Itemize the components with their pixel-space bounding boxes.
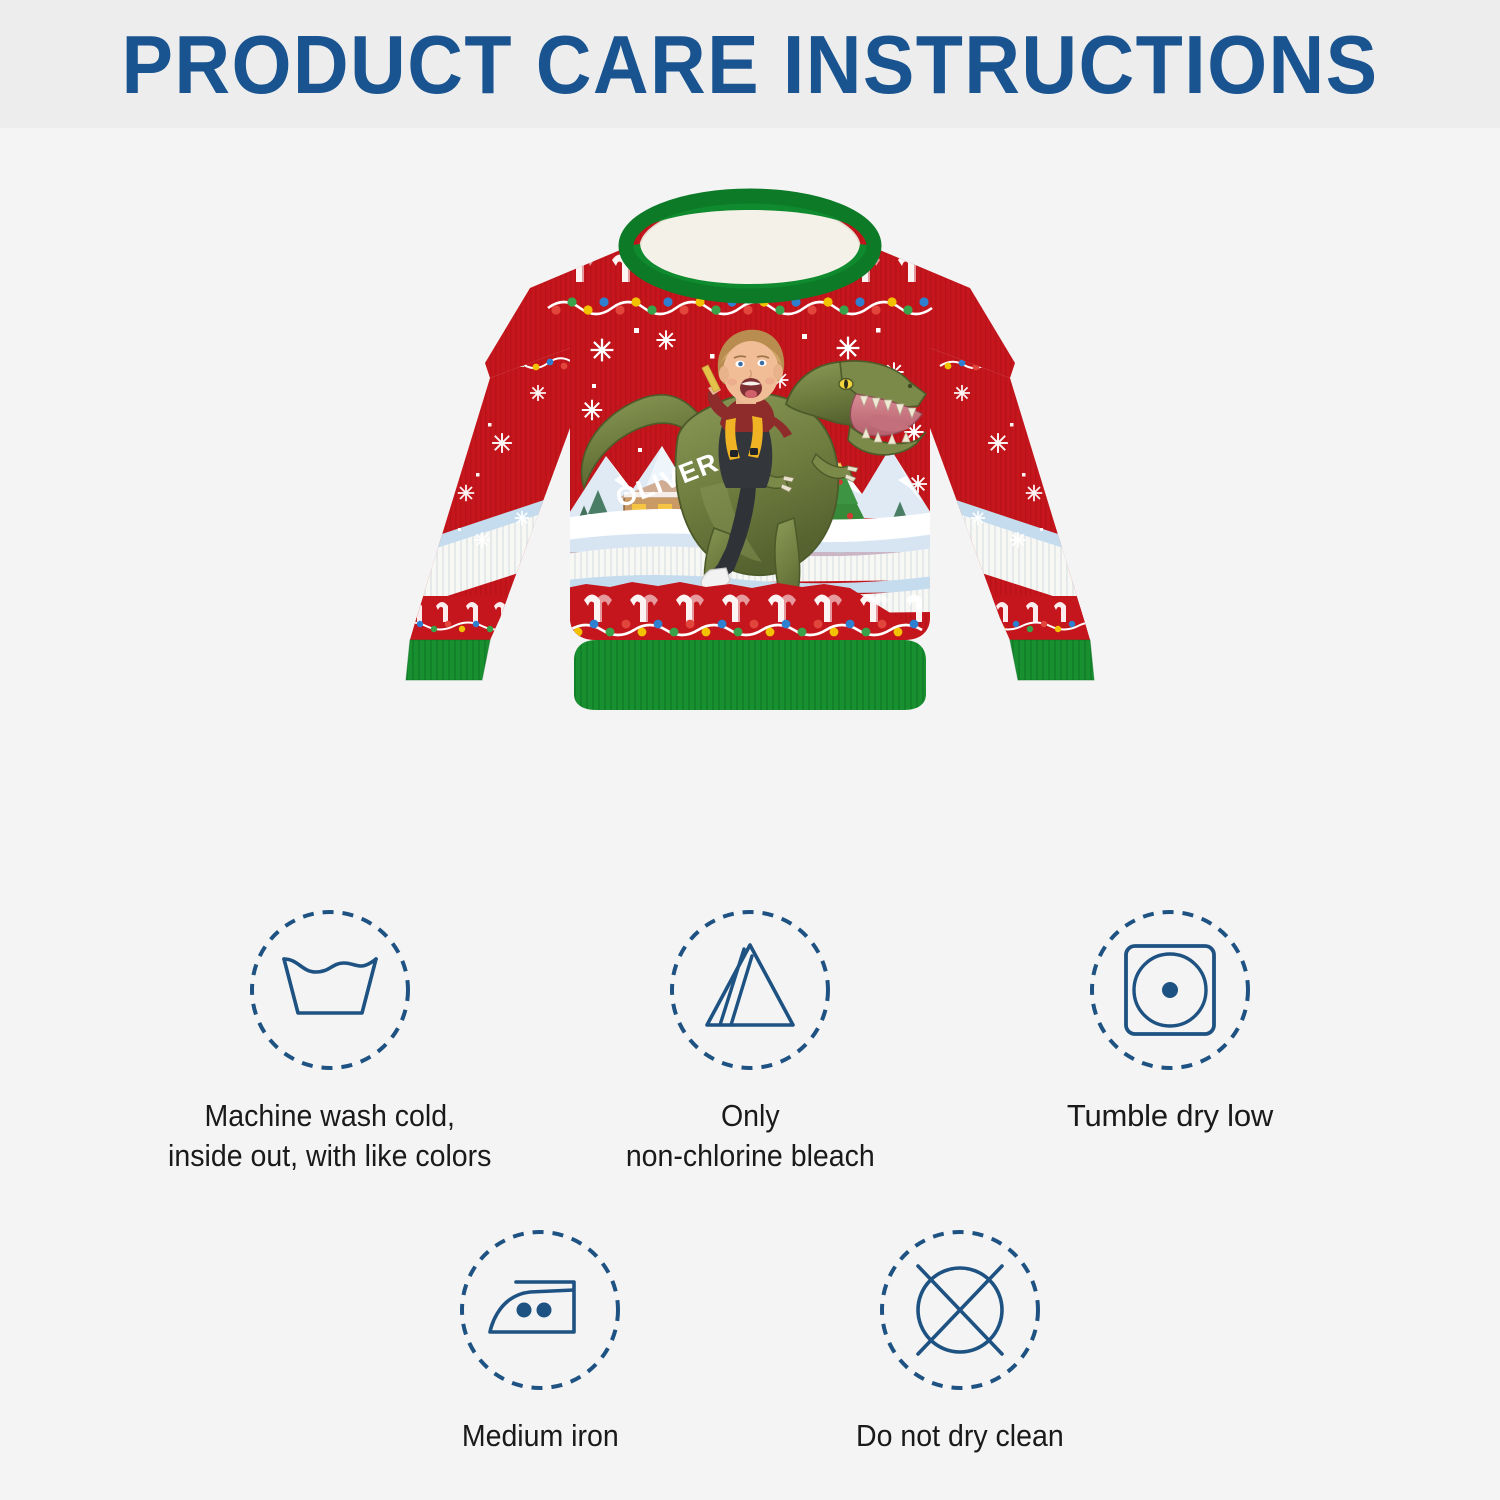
machine-wash-cold-icon — [240, 900, 420, 1080]
tumble-dry-low-icon — [1080, 900, 1260, 1080]
care-caption-iron: Medium iron — [462, 1416, 619, 1456]
page-title: PRODUCT CARE INSTRUCTIONS — [53, 17, 1448, 113]
sweater-collar — [626, 196, 874, 296]
sweater-product-image: OLIVER — [370, 188, 1130, 868]
care-caption-machine-wash: Machine wash cold, inside out, with like… — [168, 1096, 491, 1175]
care-item-iron: Medium iron — [330, 1220, 750, 1456]
care-instructions-section: Machine wash cold, inside out, with like… — [0, 900, 1500, 1500]
care-row-2: Medium iron Do not dry clean — [0, 1220, 1500, 1456]
care-caption-dry-clean: Do not dry clean — [856, 1416, 1064, 1456]
non-chlorine-bleach-icon — [660, 900, 840, 1080]
sweater-hem — [574, 640, 926, 710]
care-item-dry-clean: Do not dry clean — [750, 1220, 1170, 1456]
sweater-body: OLIVER — [485, 196, 1015, 710]
care-item-bleach: Only non-chlorine bleach — [540, 900, 960, 1175]
care-row-1: Machine wash cold, inside out, with like… — [0, 900, 1500, 1175]
product-image-area: OLIVER — [0, 128, 1500, 900]
care-item-machine-wash: Machine wash cold, inside out, with like… — [120, 900, 540, 1175]
do-not-dry-clean-icon — [870, 1220, 1050, 1400]
care-caption-tumble-dry: Tumble dry low — [1067, 1096, 1273, 1136]
medium-iron-icon — [450, 1220, 630, 1400]
care-caption-bleach: Only non-chlorine bleach — [626, 1096, 875, 1175]
care-item-tumble-dry: Tumble dry low — [960, 900, 1380, 1175]
